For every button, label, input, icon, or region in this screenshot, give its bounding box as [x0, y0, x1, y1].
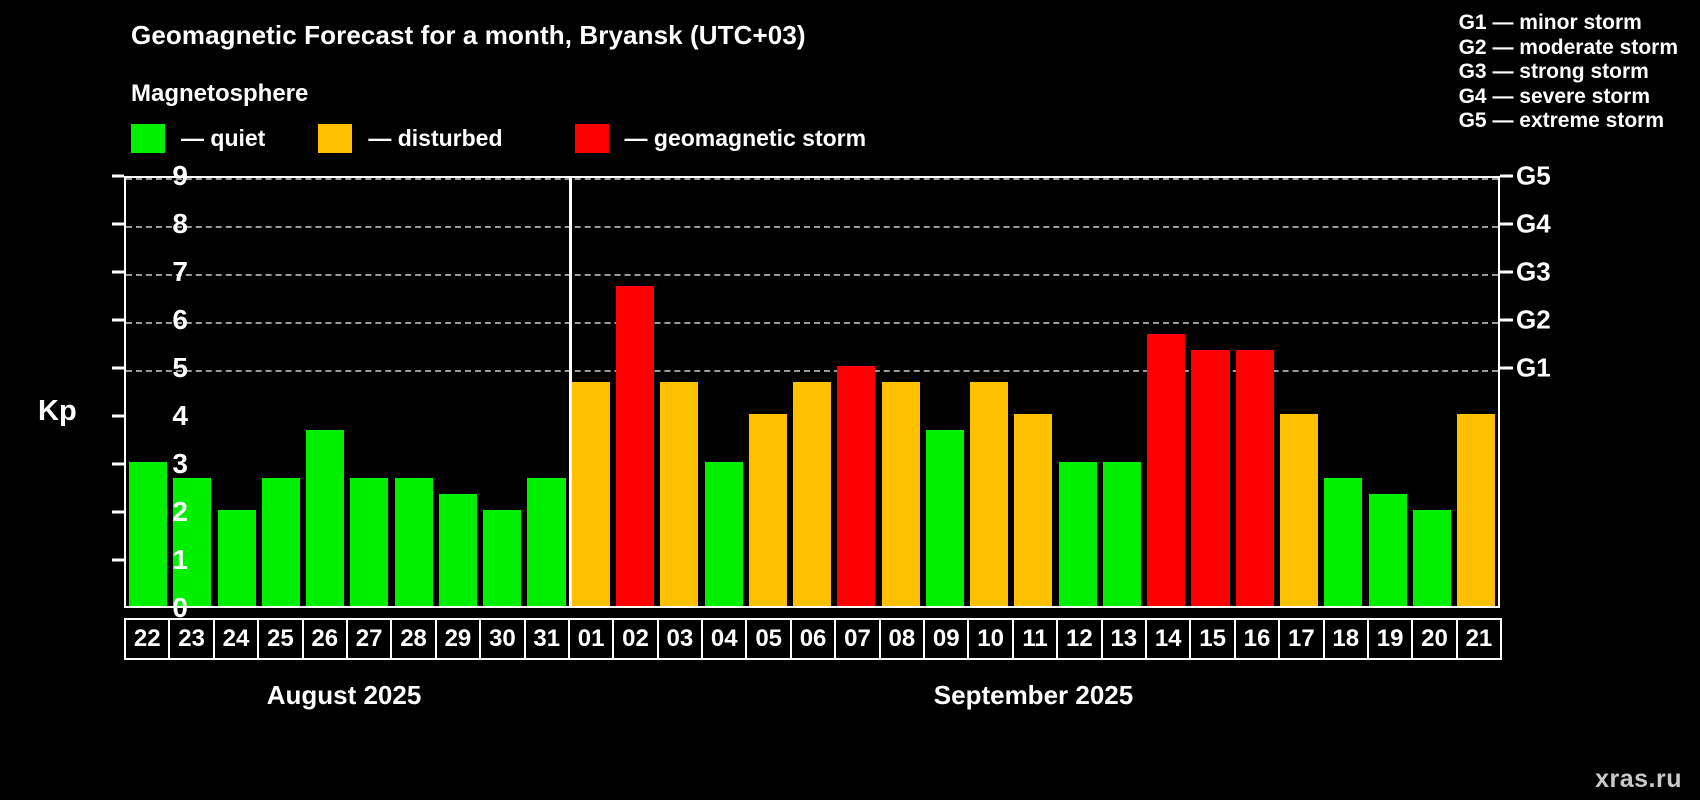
y-tick-mark	[112, 319, 124, 322]
bar-cell	[879, 178, 923, 606]
bar-09-quiet[interactable]	[926, 430, 964, 606]
y-tick-label: 0	[128, 592, 188, 624]
bar-14-storm[interactable]	[1147, 334, 1185, 606]
bar-08-disturbed[interactable]	[882, 382, 920, 606]
y-tick-mark	[112, 271, 124, 274]
date-label-24[interactable]: 24	[213, 618, 259, 660]
magnetosphere-label: Magnetosphere	[131, 80, 308, 108]
bar-30-quiet[interactable]	[483, 510, 521, 606]
month-divider	[569, 178, 572, 606]
date-label-20[interactable]: 20	[1411, 618, 1457, 660]
y-tick-mark	[112, 511, 124, 514]
y-axis-title: Kp	[38, 395, 77, 428]
bar-28-quiet[interactable]	[395, 478, 433, 606]
month-label-august: August 2025	[124, 680, 564, 711]
legend-label-quiet: — quiet	[181, 125, 265, 152]
storm-scale-g2: G2 — moderate storm	[1459, 36, 1678, 61]
bar-06-disturbed[interactable]	[793, 382, 831, 606]
bar-16-storm[interactable]	[1236, 350, 1274, 606]
y-tick-label: 9	[128, 160, 188, 192]
chart-page: Geomagnetic Forecast for a month, Bryans…	[0, 0, 1700, 800]
date-label-17[interactable]: 17	[1278, 618, 1324, 660]
g-tick-mark	[1500, 175, 1513, 178]
bar-cell	[1100, 178, 1144, 606]
y-tick-label: 7	[128, 256, 188, 288]
storm-scale-g4: G4 — severe storm	[1459, 85, 1678, 110]
date-label-14[interactable]: 14	[1145, 618, 1191, 660]
bar-cell	[303, 178, 347, 606]
g-tick-label-g5: G5	[1516, 161, 1551, 192]
g-tick-mark	[1500, 223, 1513, 226]
bar-cell	[215, 178, 259, 606]
bar-cell	[1321, 178, 1365, 606]
date-label-30[interactable]: 30	[479, 618, 525, 660]
date-label-04[interactable]: 04	[701, 618, 747, 660]
bar-cell	[347, 178, 391, 606]
bar-07-storm[interactable]	[837, 366, 875, 606]
y-tick-mark	[112, 415, 124, 418]
bar-27-quiet[interactable]	[350, 478, 388, 606]
date-label-02[interactable]: 02	[612, 618, 658, 660]
bar-10-disturbed[interactable]	[970, 382, 1008, 606]
red-square-icon	[575, 124, 609, 153]
storm-scale-g1: G1 — minor storm	[1459, 11, 1678, 36]
date-label-09[interactable]: 09	[923, 618, 969, 660]
date-label-22[interactable]: 22	[124, 618, 170, 660]
watermark: xras.ru	[1595, 765, 1682, 794]
date-label-21[interactable]: 21	[1456, 618, 1502, 660]
g-tick-mark	[1500, 319, 1513, 322]
g-tick-label-g2: G2	[1516, 305, 1551, 336]
date-label-15[interactable]: 15	[1189, 618, 1235, 660]
bar-20-quiet[interactable]	[1413, 510, 1451, 606]
bar-05-disturbed[interactable]	[749, 414, 787, 606]
bar-cell	[967, 178, 1011, 606]
plot-area	[124, 176, 1500, 608]
month-label-september: September 2025	[567, 680, 1500, 711]
bar-cell	[1454, 178, 1498, 606]
bar-25-quiet[interactable]	[262, 478, 300, 606]
y-tick-label: 5	[128, 352, 188, 384]
y-tick-mark	[112, 367, 124, 370]
bar-cell	[524, 178, 568, 606]
y-tick-label: 3	[128, 448, 188, 480]
date-label-19[interactable]: 19	[1367, 618, 1413, 660]
bar-cell	[126, 178, 170, 606]
bar-cell	[1277, 178, 1321, 606]
bar-04-quiet[interactable]	[705, 462, 743, 606]
date-label-06[interactable]: 06	[790, 618, 836, 660]
storm-scale-key: G1 — minor storm G2 — moderate storm G3 …	[1459, 11, 1678, 134]
date-label-16[interactable]: 16	[1234, 618, 1280, 660]
legend-item-disturbed: — disturbed	[318, 124, 502, 153]
date-label-01[interactable]: 01	[568, 618, 614, 660]
g-tick-mark	[1500, 367, 1513, 370]
bar-19-quiet[interactable]	[1369, 494, 1407, 606]
bar-21-disturbed[interactable]	[1457, 414, 1495, 606]
date-label-29[interactable]: 29	[435, 618, 481, 660]
bar-cell	[569, 178, 613, 606]
bar-cell	[170, 178, 214, 606]
storm-scale-g3: G3 — strong storm	[1459, 60, 1678, 85]
y-tick-label: 6	[128, 304, 188, 336]
legend-item-storm: — geomagnetic storm	[575, 124, 867, 153]
y-tick-label: 4	[128, 400, 188, 432]
bar-17-disturbed[interactable]	[1280, 414, 1318, 606]
green-square-icon	[131, 124, 165, 153]
bar-cell	[834, 178, 878, 606]
date-axis: 2223242526272829303101020304050607080910…	[124, 618, 1500, 660]
g-tick-mark	[1500, 271, 1513, 274]
storm-scale-g5: G5 — extreme storm	[1459, 109, 1678, 134]
date-label-27[interactable]: 27	[346, 618, 392, 660]
bar-15-storm[interactable]	[1191, 350, 1229, 606]
bar-series	[126, 178, 1498, 606]
date-label-12[interactable]: 12	[1056, 618, 1102, 660]
legend-label-storm: — geomagnetic storm	[625, 125, 867, 152]
y-tick-mark	[112, 175, 124, 178]
bar-cell	[657, 178, 701, 606]
bar-cell	[1056, 178, 1100, 606]
g-tick-label-g1: G1	[1516, 353, 1551, 384]
date-label-31[interactable]: 31	[524, 618, 570, 660]
bar-18-quiet[interactable]	[1324, 478, 1362, 606]
g-tick-label-g4: G4	[1516, 209, 1551, 240]
date-label-23[interactable]: 23	[168, 618, 214, 660]
legend: — quiet — disturbed — geomagnetic storm	[131, 124, 866, 153]
legend-item-quiet: — quiet	[131, 124, 265, 153]
y-tick-mark	[112, 223, 124, 226]
bar-11-disturbed[interactable]	[1014, 414, 1052, 606]
date-label-10[interactable]: 10	[967, 618, 1013, 660]
date-label-13[interactable]: 13	[1101, 618, 1147, 660]
date-label-26[interactable]: 26	[302, 618, 348, 660]
bar-cell	[1233, 178, 1277, 606]
bar-cell	[790, 178, 834, 606]
date-label-08[interactable]: 08	[879, 618, 925, 660]
y-tick-mark	[112, 463, 124, 466]
y-tick-label: 2	[128, 496, 188, 528]
date-label-25[interactable]: 25	[257, 618, 303, 660]
bar-cell	[613, 178, 657, 606]
bar-26-quiet[interactable]	[306, 430, 344, 606]
y-tick-label: 8	[128, 208, 188, 240]
date-label-07[interactable]: 07	[834, 618, 880, 660]
bar-cell	[1188, 178, 1232, 606]
bar-cell	[1365, 178, 1409, 606]
bar-cell	[392, 178, 436, 606]
bar-cell	[436, 178, 480, 606]
bar-02-storm[interactable]	[616, 286, 654, 606]
bar-cell	[701, 178, 745, 606]
g-tick-label-g3: G3	[1516, 257, 1551, 288]
bar-cell	[480, 178, 524, 606]
bar-13-quiet[interactable]	[1103, 462, 1141, 606]
bar-24-quiet[interactable]	[218, 510, 256, 606]
bar-cell	[1410, 178, 1454, 606]
bar-31-quiet[interactable]	[527, 478, 565, 606]
date-label-11[interactable]: 11	[1012, 618, 1058, 660]
bar-cell	[1144, 178, 1188, 606]
date-label-18[interactable]: 18	[1323, 618, 1369, 660]
bar-03-disturbed[interactable]	[660, 382, 698, 606]
bar-01-disturbed[interactable]	[572, 382, 610, 606]
bar-cell	[259, 178, 303, 606]
date-label-05[interactable]: 05	[745, 618, 791, 660]
date-label-28[interactable]: 28	[390, 618, 436, 660]
legend-label-disturbed: — disturbed	[368, 125, 502, 152]
page-title: Geomagnetic Forecast for a month, Bryans…	[131, 20, 806, 51]
y-tick-mark	[112, 559, 124, 562]
bar-12-quiet[interactable]	[1059, 462, 1097, 606]
orange-square-icon	[318, 124, 352, 153]
bar-29-quiet[interactable]	[439, 494, 477, 606]
y-tick-label: 1	[128, 544, 188, 576]
date-label-03[interactable]: 03	[657, 618, 703, 660]
bar-22-quiet[interactable]	[129, 462, 167, 606]
bar-cell	[923, 178, 967, 606]
bar-cell	[746, 178, 790, 606]
bar-cell	[1011, 178, 1055, 606]
